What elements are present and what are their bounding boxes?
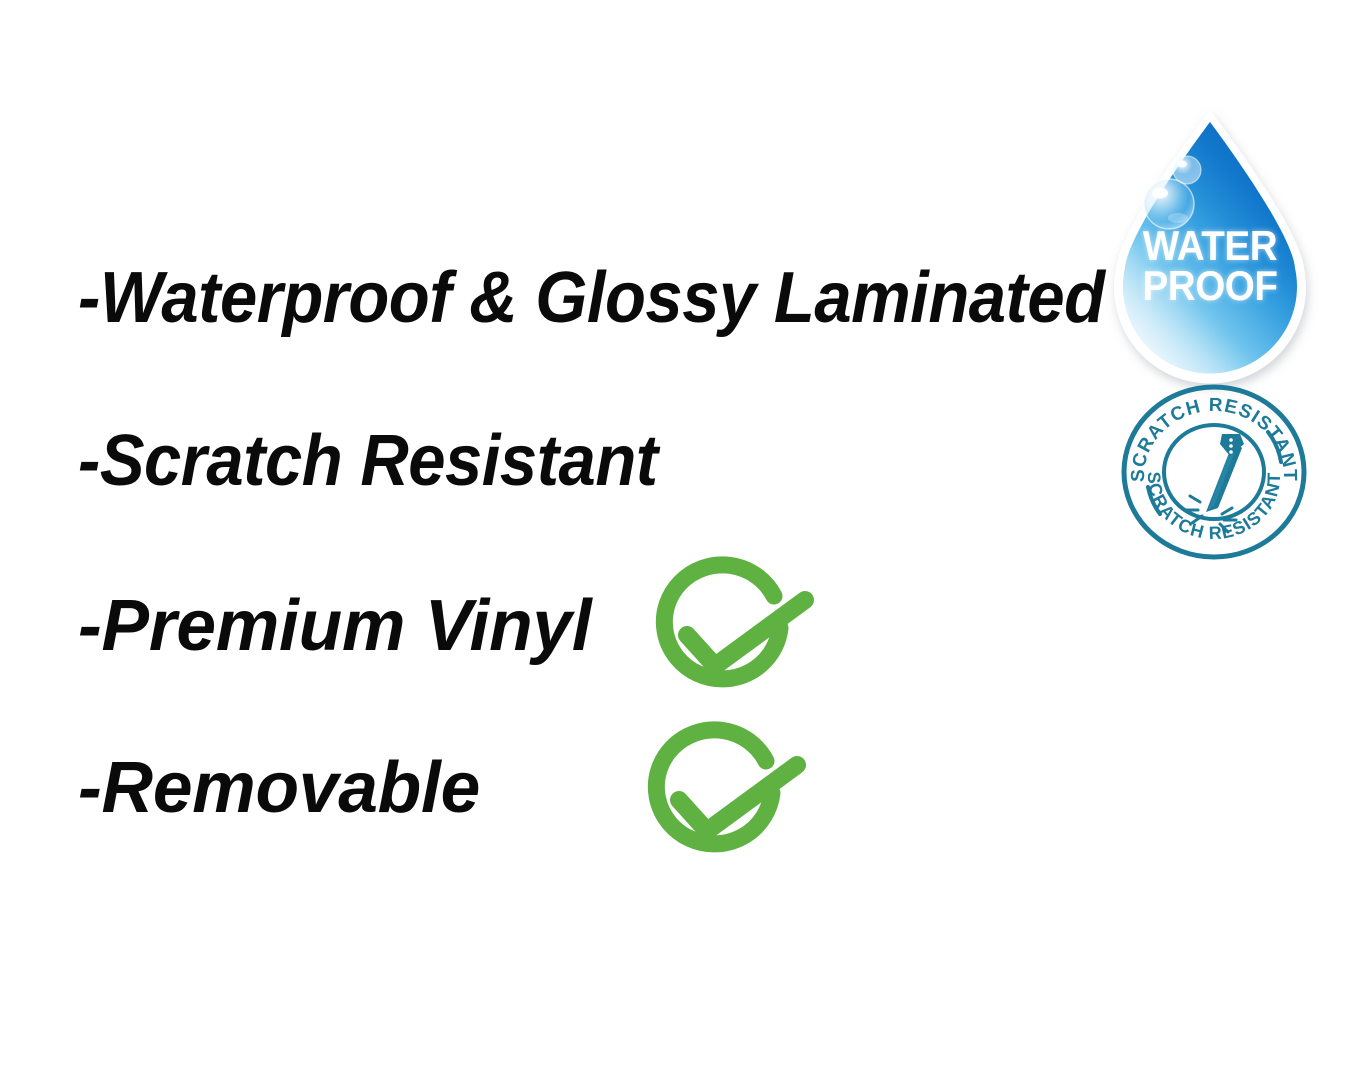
check-circle-icon xyxy=(645,558,825,708)
check-circle-icon xyxy=(637,723,817,873)
check-circle-removable xyxy=(637,723,817,873)
feature-list: -Waterproof & Glossy Laminated -Scratch … xyxy=(0,0,1100,1080)
scratch-resistant-seal-icon: SCRATCH RESISTANT SCRATCH RESISTANT xyxy=(1118,382,1310,560)
bubble-large-icon xyxy=(1144,179,1194,229)
feature-item-waterproof-glossy-laminated: -Waterproof & Glossy Laminated xyxy=(78,262,1105,334)
feature-item-removable: -Removable xyxy=(78,752,480,824)
water-drop-icon xyxy=(1104,108,1316,364)
feature-item-scratch-resistant: -Scratch Resistant xyxy=(78,425,658,497)
feature-item-premium-vinyl: -Premium Vinyl xyxy=(78,590,592,662)
product-feature-graphic: -Waterproof & Glossy Laminated -Scratch … xyxy=(0,0,1359,1080)
check-circle-premium-vinyl xyxy=(645,558,825,708)
waterproof-badge: WATER PROOF xyxy=(1104,108,1316,364)
scratch-resistant-badge: SCRATCH RESISTANT SCRATCH RESISTANT xyxy=(1118,382,1310,560)
